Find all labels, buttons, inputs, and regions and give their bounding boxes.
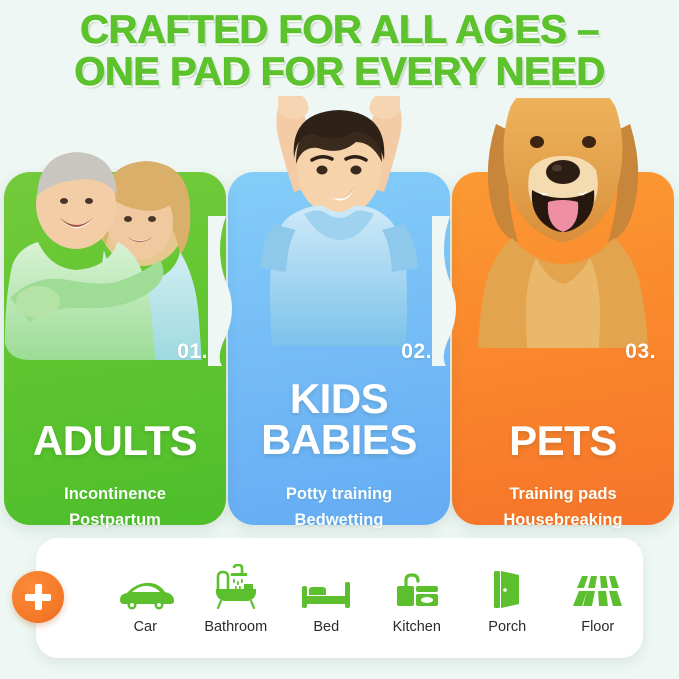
card-title-pets: PETS (452, 420, 674, 461)
usage-label-car: Car (134, 619, 157, 635)
card-title-adults: ADULTS (4, 420, 226, 461)
bed-icon (299, 562, 353, 610)
car-icon (116, 562, 174, 610)
usage-label-kitchen: Kitchen (393, 619, 441, 635)
floor-planks-icon (572, 562, 624, 610)
usage-item-car[interactable]: Car (100, 562, 190, 635)
card-title-kids-babies: KIDS BABIES (228, 378, 450, 460)
usage-label-bed: Bed (313, 619, 339, 635)
usage-label-bathroom: Bathroom (204, 619, 267, 635)
kitchen-sink-icon (392, 562, 442, 610)
category-card-kids-babies[interactable]: 02. KIDS BABIES Potty training Bedwettin… (228, 172, 450, 525)
card-number-badge-2: 02. (401, 340, 432, 364)
headline-line-2: ONE PAD FOR EVERY NEED (0, 52, 679, 92)
usage-label-porch: Porch (488, 619, 526, 635)
door-icon (489, 562, 525, 610)
category-card-pets[interactable]: 03. PETS Training pads Housebreaking Eld… (452, 172, 674, 525)
list-item: Potty training (228, 482, 450, 508)
card-title-text-3: PETS (509, 417, 617, 464)
usage-item-bed[interactable]: Bed (281, 562, 371, 635)
usage-item-bathroom[interactable]: Bathroom (191, 562, 281, 635)
usage-item-porch[interactable]: Porch (462, 562, 552, 635)
usage-label-floor: Floor (581, 619, 614, 635)
headline-block: CRAFTED FOR ALL AGES – ONE PAD FOR EVERY… (0, 10, 679, 92)
card-title-text-2b: BABIES (228, 419, 450, 460)
card-number-badge-3: 03. (625, 340, 656, 364)
infographic-canvas: CRAFTED FOR ALL AGES – ONE PAD FOR EVERY… (0, 0, 679, 679)
plus-badge[interactable] (12, 571, 64, 623)
usage-item-floor[interactable]: Floor (553, 562, 643, 635)
list-item: Bedwetting (228, 508, 450, 534)
plus-icon-vertical (35, 584, 42, 610)
list-item: Housebreaking (452, 508, 674, 534)
category-card-row: 01. ADULTS Incontinence Postpartum Menst… (0, 100, 679, 525)
bathtub-shower-icon (211, 562, 261, 610)
usage-icon-row: Car (100, 538, 643, 658)
headline-line-1: CRAFTED FOR ALL AGES – (0, 10, 679, 50)
card-title-text-2a: KIDS (228, 378, 450, 419)
list-item: Postpartum (4, 508, 226, 534)
usage-locations-bar: Car (36, 538, 643, 658)
card-number-badge-1: 01. (177, 340, 208, 364)
list-item: Incontinence (4, 482, 226, 508)
list-item: Training pads (452, 482, 674, 508)
category-card-adults[interactable]: 01. ADULTS Incontinence Postpartum Menst… (4, 172, 226, 525)
usage-item-kitchen[interactable]: Kitchen (372, 562, 462, 635)
card-title-text-1: ADULTS (33, 417, 197, 464)
